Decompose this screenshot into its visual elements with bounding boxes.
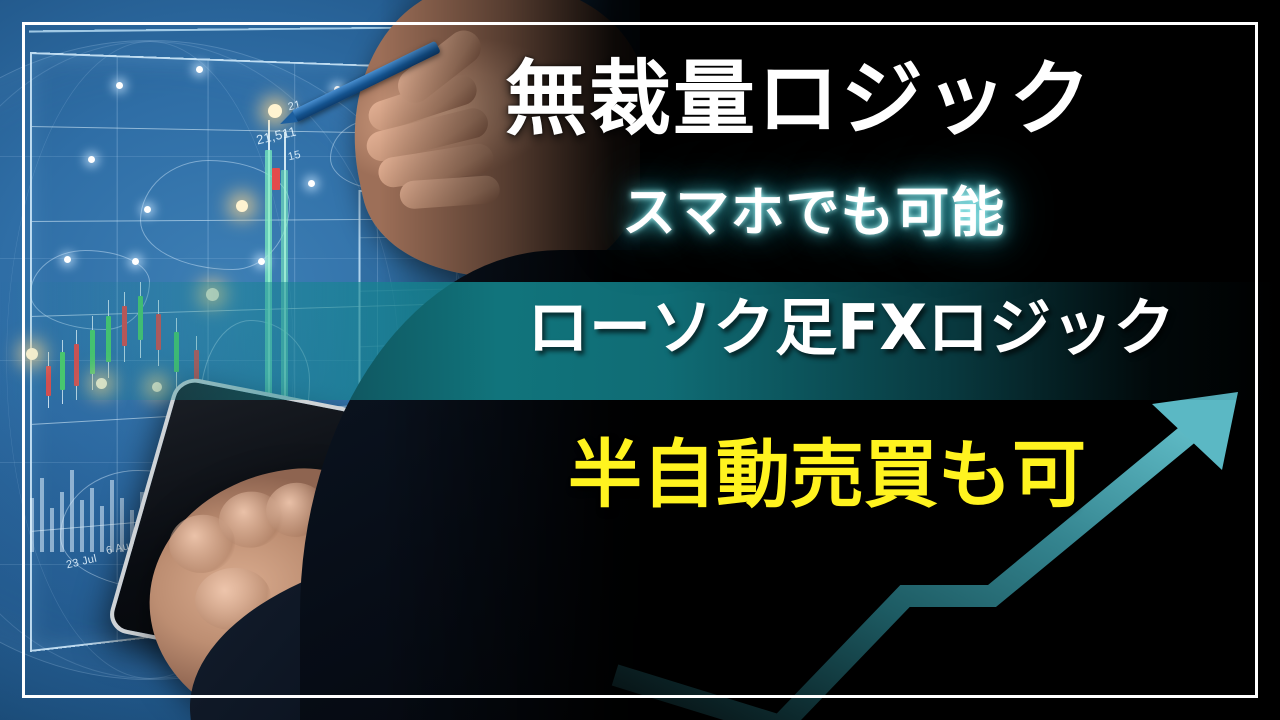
- thumbnail-canvas: 21,511 21 15 25 23 Jul 6 Aug 20 Aug: [0, 0, 1280, 720]
- headline-primary: 無裁量ロジック: [505, 58, 1093, 140]
- headline-secondary: スマホでも可能: [622, 186, 1005, 240]
- headline-tertiary: ローソク足FXロジック: [527, 297, 1175, 359]
- headline-highlight: 半自動売買も可: [568, 438, 1086, 512]
